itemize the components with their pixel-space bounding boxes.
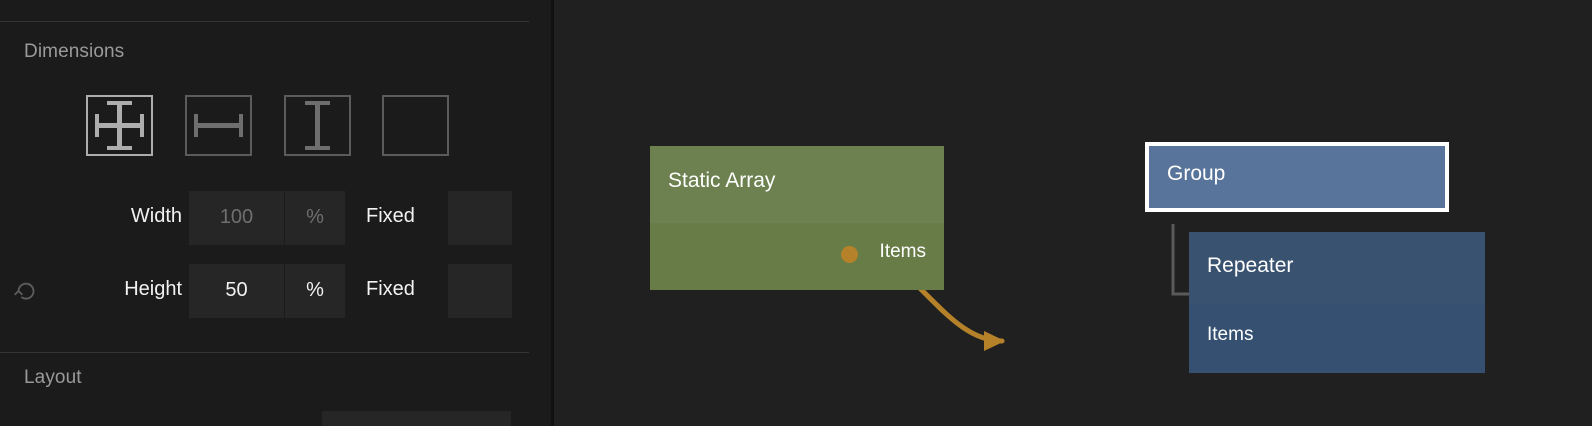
width-unit-input[interactable]: % xyxy=(285,191,345,245)
resize-none-icon-button[interactable] xyxy=(382,95,449,156)
revert-arrow-icon-button[interactable] xyxy=(12,277,40,305)
height-value-text: 50 xyxy=(189,279,284,302)
edge-arrowhead-icon xyxy=(984,331,1005,351)
node-repeater[interactable]: Repeater Items xyxy=(1189,232,1485,373)
resize-height-icon-button[interactable] xyxy=(284,95,351,156)
height-extra-field[interactable] xyxy=(448,264,512,318)
application-window: Dimensions xyxy=(0,0,1592,426)
section-title-layout: Layout xyxy=(24,367,82,389)
height-unit-text: % xyxy=(285,279,345,302)
resize-width-icon-button[interactable] xyxy=(185,95,252,156)
height-mode-dropdown[interactable]: Fixed xyxy=(366,278,415,301)
revert-arrow-icon xyxy=(12,277,40,305)
port-static-array-items[interactable]: Items xyxy=(880,241,926,263)
width-label: Width xyxy=(131,205,182,228)
resize-height-icon xyxy=(286,97,349,154)
height-value-input[interactable]: 50 xyxy=(189,264,284,318)
port-repeater-items[interactable]: Items xyxy=(1207,324,1253,346)
width-value-input[interactable]: 100 xyxy=(189,191,284,245)
height-label: Height xyxy=(124,278,182,301)
resize-both-icon xyxy=(88,97,151,154)
width-extra-field[interactable] xyxy=(448,191,512,245)
node-group[interactable]: Group xyxy=(1149,146,1445,208)
node-static-array-title: Static Array xyxy=(668,169,775,193)
layout-field-partial[interactable] xyxy=(322,411,511,426)
node-group-title: Group xyxy=(1167,162,1225,186)
width-mode-dropdown[interactable]: Fixed xyxy=(366,205,415,228)
resize-both-icon-button[interactable] xyxy=(86,95,153,156)
divider-above-layout xyxy=(0,352,529,353)
divider-above-dimensions xyxy=(0,21,529,22)
height-unit-input[interactable]: % xyxy=(285,264,345,318)
inspector-panel: Dimensions xyxy=(0,0,551,426)
node-repeater-title: Repeater xyxy=(1207,254,1293,278)
width-unit-text: % xyxy=(285,206,345,229)
resize-none-icon xyxy=(384,97,447,154)
node-static-array[interactable]: Static Array Items xyxy=(650,146,944,290)
dimension-row-height: Height 50 % Fixed xyxy=(0,264,551,318)
node-graph-canvas[interactable]: Static Array Items Group Repeater Items xyxy=(554,0,1592,426)
node-group-selection-border: Group xyxy=(1145,142,1449,212)
port-dot-static-array-items[interactable] xyxy=(841,246,858,263)
resize-width-icon xyxy=(187,97,250,154)
section-title-dimensions: Dimensions xyxy=(24,41,124,63)
tree-hierarchy-connector-icon xyxy=(1171,224,1190,296)
width-value-text: 100 xyxy=(189,206,284,229)
dimension-row-width: Width 100 % Fixed xyxy=(0,191,551,245)
